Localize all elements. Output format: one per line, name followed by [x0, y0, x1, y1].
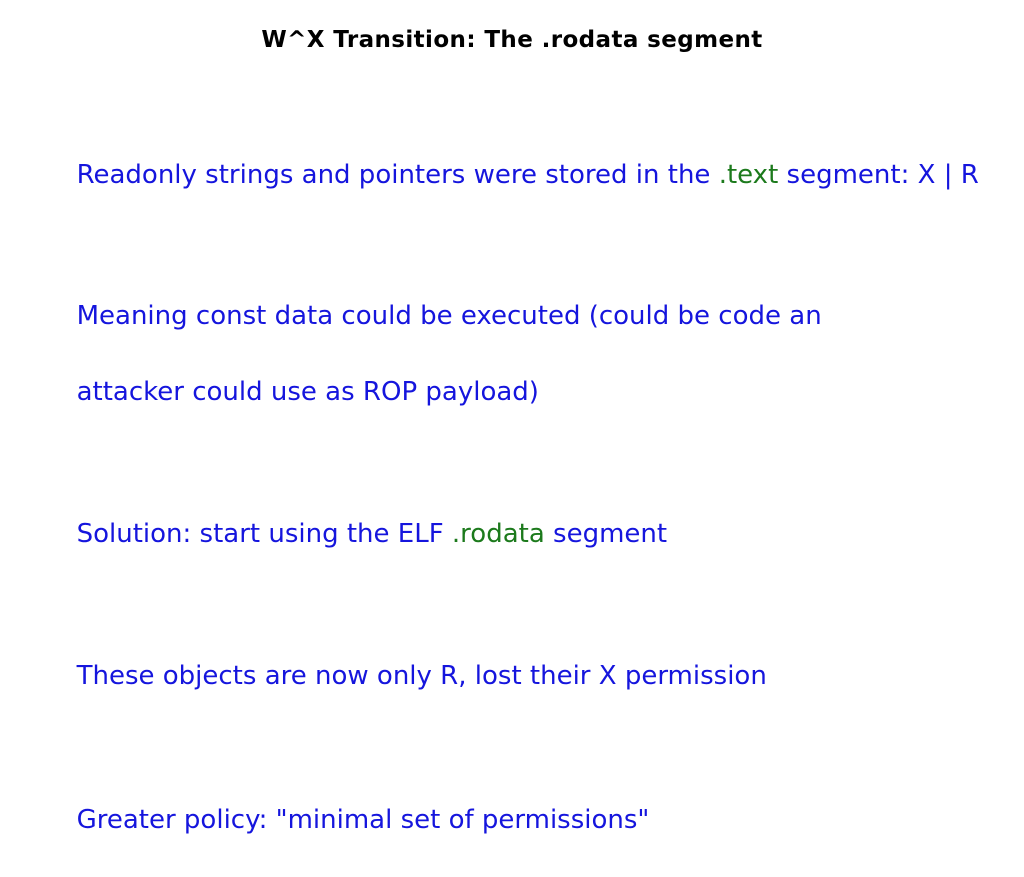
text-run: segment	[545, 519, 667, 549]
slide-title: W^X Transition: The .rodata segment	[0, 27, 1024, 53]
text-run: Meaning const data could be executed (co…	[77, 301, 822, 331]
text-run: Readonly strings and pointers were store…	[77, 160, 719, 190]
bullet-paragraph-5: Greater policy: "minimal set of permissi…	[27, 763, 997, 877]
text-run: Solution: start using the ELF	[77, 519, 452, 549]
bullet-paragraph-4: These objects are now only R, lost their…	[27, 619, 997, 733]
text-run: attacker could use as ROP payload)	[77, 377, 539, 407]
bullet-paragraph-3: Solution: start using the ELF .rodata se…	[27, 477, 997, 591]
segment-name-rodata: .rodata	[452, 519, 545, 549]
slide-body: Readonly strings and pointers were store…	[27, 118, 997, 877]
segment-name-text: .text	[719, 160, 779, 190]
slide-canvas: W^X Transition: The .rodata segment Read…	[0, 0, 1024, 768]
bullet-paragraph-2: Meaning const data could be executed (co…	[27, 259, 997, 449]
bullet-paragraph-1: Readonly strings and pointers were store…	[27, 118, 997, 232]
text-run: These objects are now only R, lost their…	[77, 661, 767, 691]
text-run: segment: X | R	[778, 160, 979, 190]
text-run: Greater policy: "minimal set of permissi…	[77, 805, 650, 835]
